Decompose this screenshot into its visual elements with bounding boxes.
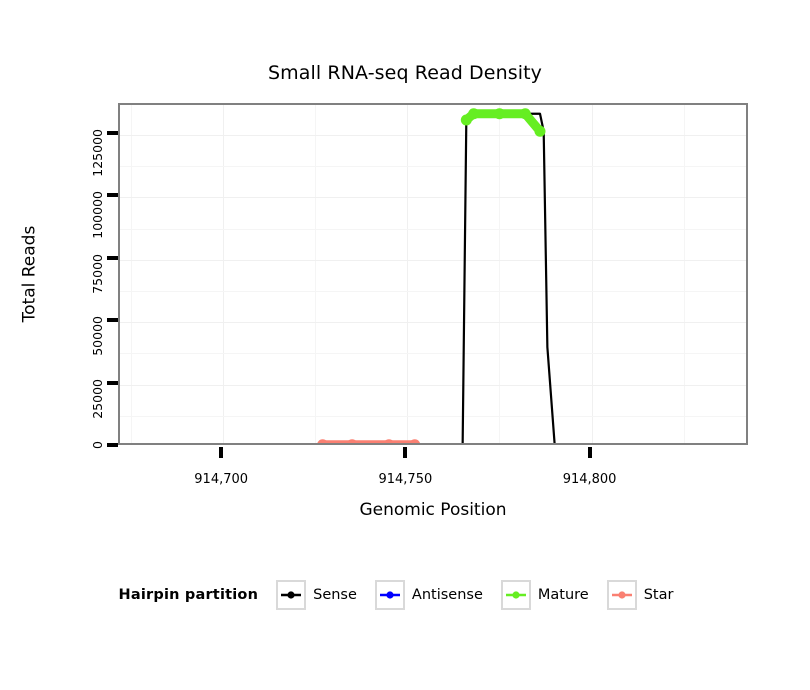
plot-area — [120, 105, 746, 443]
series-mature — [461, 108, 546, 136]
legend-label: Star — [644, 587, 674, 603]
series-point — [347, 439, 358, 443]
page-title: Small RNA-seq Read Density — [0, 62, 810, 84]
x-axis-tick — [403, 447, 407, 458]
series-point — [409, 439, 420, 443]
y-axis-tick — [107, 381, 118, 385]
legend-item-antisense[interactable]: Antisense — [375, 580, 497, 610]
y-axis-tick-label: 125000 — [90, 129, 105, 231]
y-axis-tick — [107, 193, 118, 197]
x-axis-label: Genomic Position — [118, 500, 748, 520]
x-axis-tick-label: 914,750 — [378, 472, 432, 487]
plot-panel — [118, 103, 748, 445]
data-series-layer — [120, 105, 746, 443]
series-point — [317, 439, 328, 443]
series-point — [383, 439, 394, 443]
y-axis-tick — [107, 256, 118, 260]
legend-label: Antisense — [412, 587, 483, 603]
series-point — [494, 108, 505, 119]
legend-key-star-icon — [607, 580, 637, 610]
legend-item-mature[interactable]: Mature — [501, 580, 603, 610]
series-point — [468, 108, 479, 119]
x-axis-tick — [588, 447, 592, 458]
y-axis-tick — [107, 443, 118, 447]
legend-key-mature-icon — [501, 580, 531, 610]
x-axis-tick-label: 914,800 — [563, 472, 617, 487]
legend-key-sense-icon — [276, 580, 306, 610]
y-axis-tick — [107, 131, 118, 135]
y-axis-tick — [107, 318, 118, 322]
y-axis-label-text: Total Reads — [19, 226, 39, 323]
legend: Hairpin partition SenseAntisenseMatureSt… — [0, 580, 810, 610]
series-point — [535, 126, 546, 137]
legend-label: Mature — [538, 587, 589, 603]
x-axis-tick-label: 914,700 — [194, 472, 248, 487]
legend-items: SenseAntisenseMatureStar — [276, 580, 691, 610]
series-sense — [131, 114, 739, 443]
x-axis-tick — [219, 447, 223, 458]
chart-root: Small RNA-seq Read Density Total Reads 0… — [0, 0, 810, 690]
legend-item-star[interactable]: Star — [607, 580, 688, 610]
series-star — [317, 439, 420, 443]
y-axis-label: Total Reads — [18, 103, 40, 445]
legend-title: Hairpin partition — [119, 587, 259, 603]
legend-item-sense[interactable]: Sense — [276, 580, 371, 610]
legend-key-antisense-icon — [375, 580, 405, 610]
legend-label: Sense — [313, 587, 357, 603]
series-point — [520, 108, 531, 119]
series-line — [131, 114, 739, 443]
